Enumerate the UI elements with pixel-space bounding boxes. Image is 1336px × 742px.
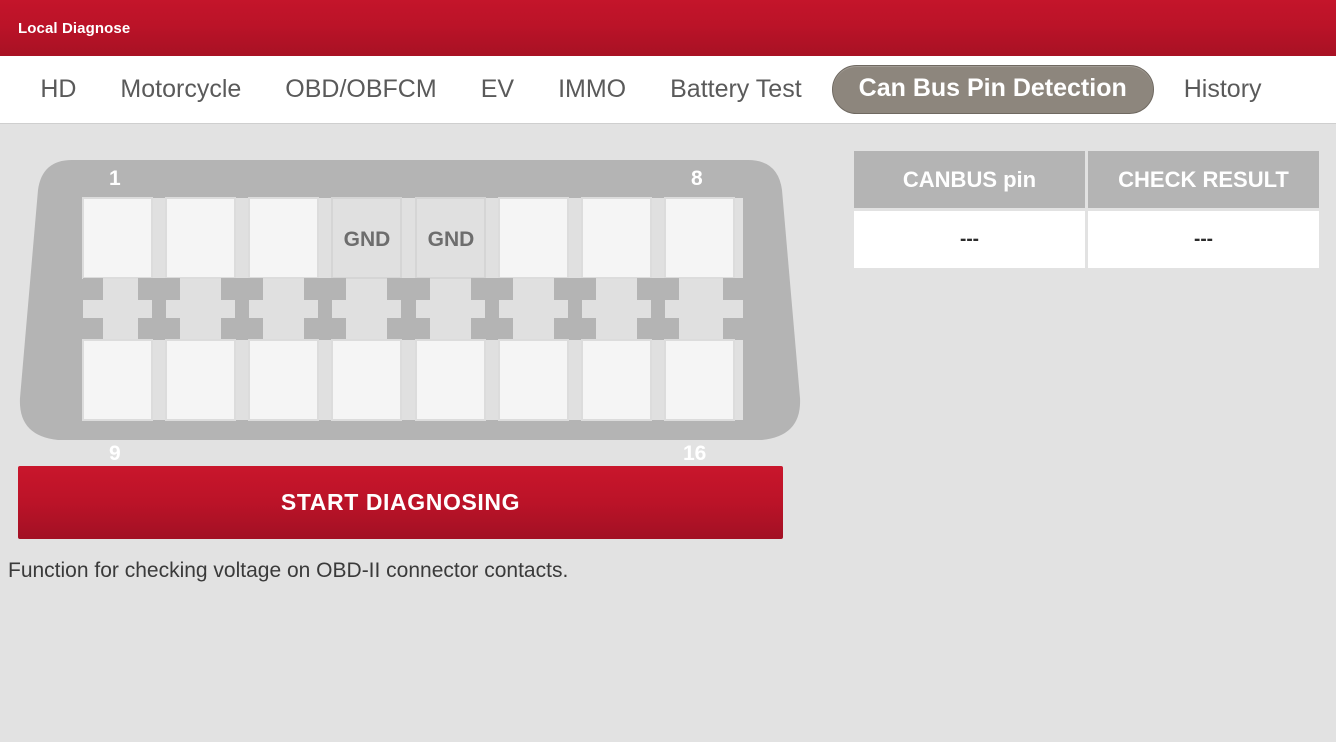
- pin-socket-11: [249, 340, 318, 420]
- page-title: Local Diagnose: [0, 20, 130, 37]
- pin-socket-3: [249, 198, 318, 278]
- pin-socket-2: [166, 198, 235, 278]
- pin-socket-10: [166, 340, 235, 420]
- column-header-check-result: CHECK RESULT: [1088, 151, 1319, 208]
- cell-check-result-value: ---: [1088, 211, 1319, 268]
- main-content: GND GND 1 8 9 16 START DIAGNOSING Functi…: [0, 125, 1336, 742]
- pin-socket-15: [582, 340, 651, 420]
- function-description: Function for checking voltage on OBD-II …: [8, 559, 568, 583]
- tab-immo[interactable]: IMMO: [536, 77, 648, 102]
- start-diagnosing-button[interactable]: START DIAGNOSING: [18, 466, 783, 539]
- tab-battery-test[interactable]: Battery Test: [648, 77, 824, 102]
- pin-socket-7: [582, 198, 651, 278]
- pin-number-1: 1: [109, 167, 121, 190]
- pin-socket-8: [665, 198, 734, 278]
- pin-socket-6: [499, 198, 568, 278]
- pin-socket-16: [665, 340, 734, 420]
- pin-socket-9: [83, 340, 152, 420]
- tab-ev[interactable]: EV: [459, 77, 536, 102]
- pin-label-5: GND: [428, 228, 475, 251]
- table-header-row: CANBUS pin CHECK RESULT: [854, 151, 1319, 208]
- pin-number-16: 16: [683, 442, 706, 463]
- tab-bar[interactable]: ese HD Motorcycle OBD/OBFCM EV IMMO Batt…: [0, 56, 1336, 124]
- obd-connector-diagram[interactable]: GND GND 1 8 9 16: [10, 138, 810, 463]
- tab-can-bus-pin-detection[interactable]: Can Bus Pin Detection: [832, 65, 1154, 114]
- title-bar: Local Diagnose: [0, 0, 1336, 56]
- tab-history[interactable]: History: [1162, 77, 1284, 102]
- pin-socket-13: [416, 340, 485, 420]
- pin-label-4: GND: [344, 228, 391, 251]
- tab-obd-obfcm[interactable]: OBD/OBFCM: [263, 77, 458, 102]
- pin-number-8: 8: [691, 167, 703, 190]
- tab-hd[interactable]: HD: [18, 77, 98, 102]
- pin-socket-12: [332, 340, 401, 420]
- app-window: Local Diagnose ese HD Motorcycle OBD/OBF…: [0, 0, 1336, 742]
- tab-motorcycle[interactable]: Motorcycle: [98, 77, 263, 102]
- tab-chinese-clipped[interactable]: ese: [0, 77, 18, 102]
- pin-socket-1: [83, 198, 152, 278]
- check-result-table: CANBUS pin CHECK RESULT --- ---: [851, 148, 1322, 271]
- pin-number-9: 9: [109, 442, 121, 463]
- pin-socket-14: [499, 340, 568, 420]
- column-header-canbus-pin: CANBUS pin: [854, 151, 1085, 208]
- table-row: --- ---: [854, 211, 1319, 268]
- cell-canbus-pin-value: ---: [854, 211, 1085, 268]
